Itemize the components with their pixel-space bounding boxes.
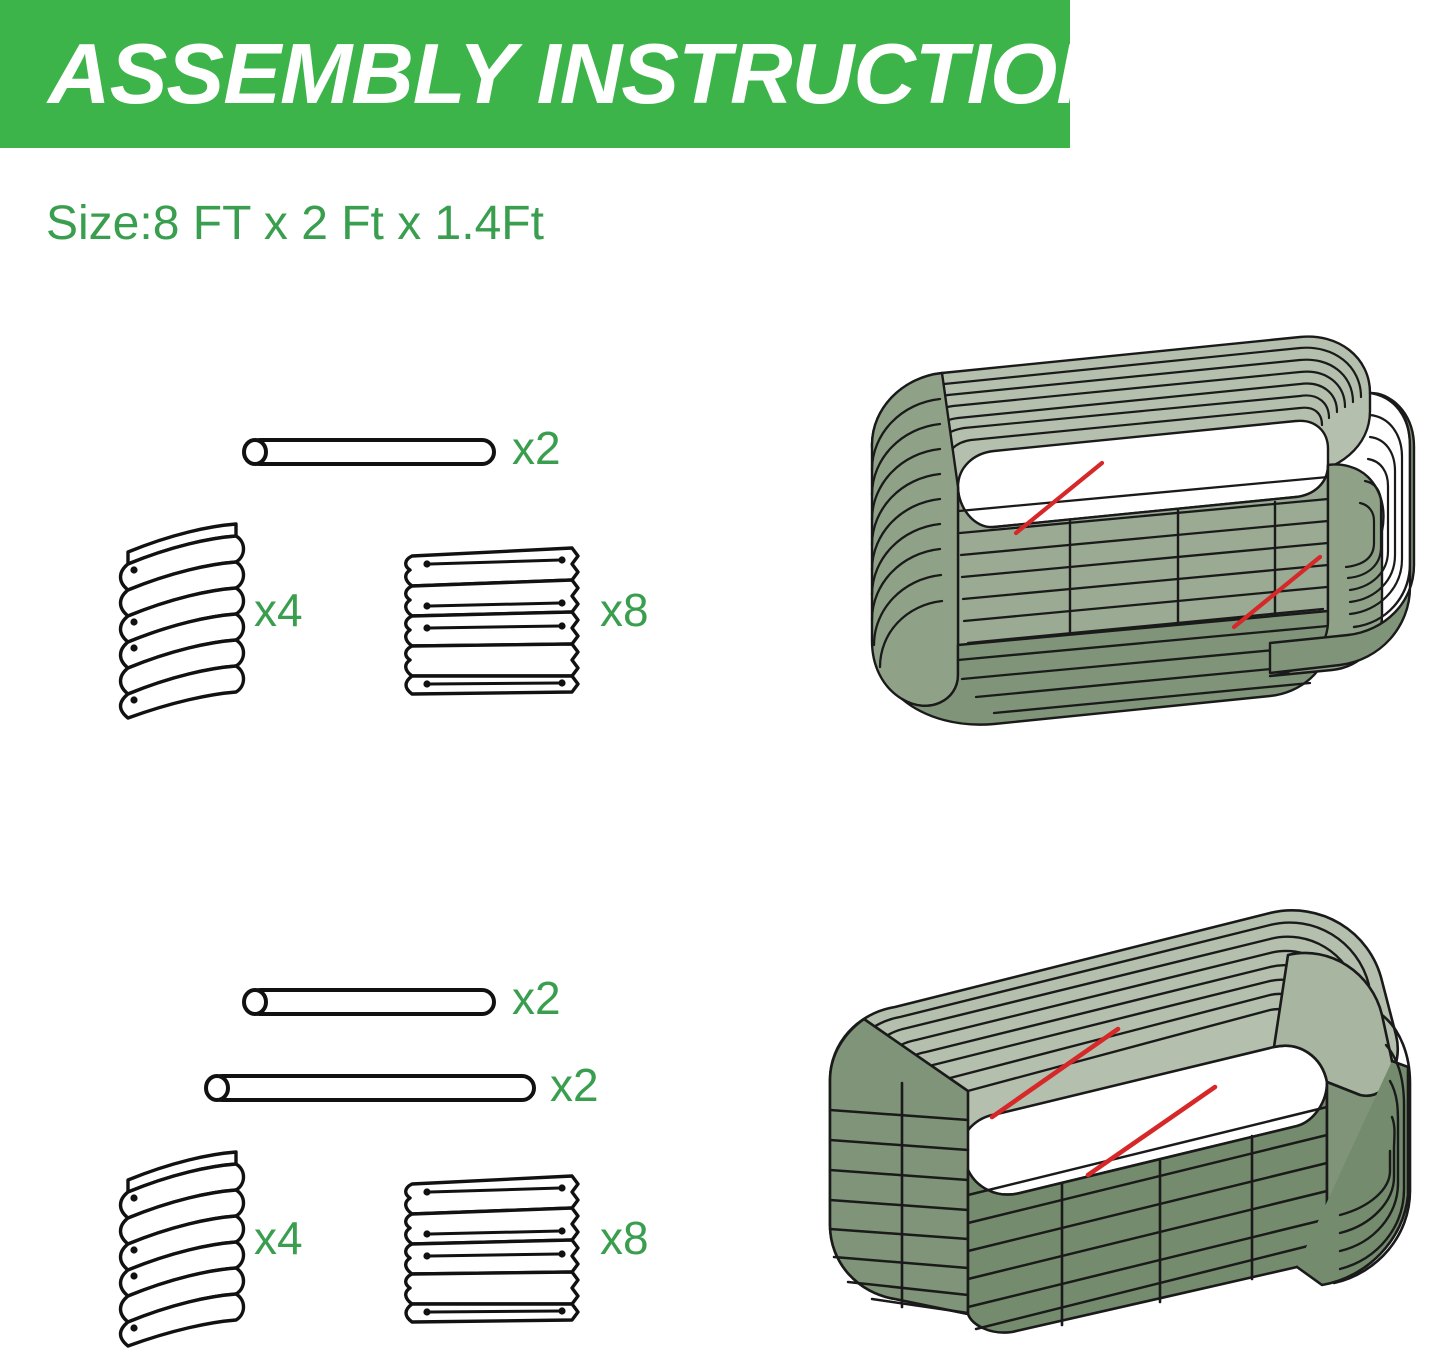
qty-label-rod-long-lower: x2 [550, 1062, 599, 1108]
lower-parts-group: x2 x2 x4 [0, 0, 720, 340]
qty-label-straight-upper: x8 [600, 587, 649, 633]
raised-bed-low-oval [830, 315, 1435, 825]
rod-icon [200, 1068, 540, 1108]
qty-label-curved-lower: x4 [254, 1215, 303, 1261]
qty-label-straight-lower: x8 [600, 1215, 649, 1261]
qty-label-rod-upper: x2 [512, 425, 561, 471]
straight-panel-icon [402, 1162, 592, 1334]
rod-icon [238, 432, 500, 472]
straight-panel-icon [402, 534, 592, 706]
raised-bed-tall-rectangular [800, 895, 1445, 1338]
qty-label-curved-upper: x4 [254, 587, 303, 633]
qty-label-rod-short-lower: x2 [512, 975, 561, 1021]
rod-icon [238, 982, 500, 1022]
